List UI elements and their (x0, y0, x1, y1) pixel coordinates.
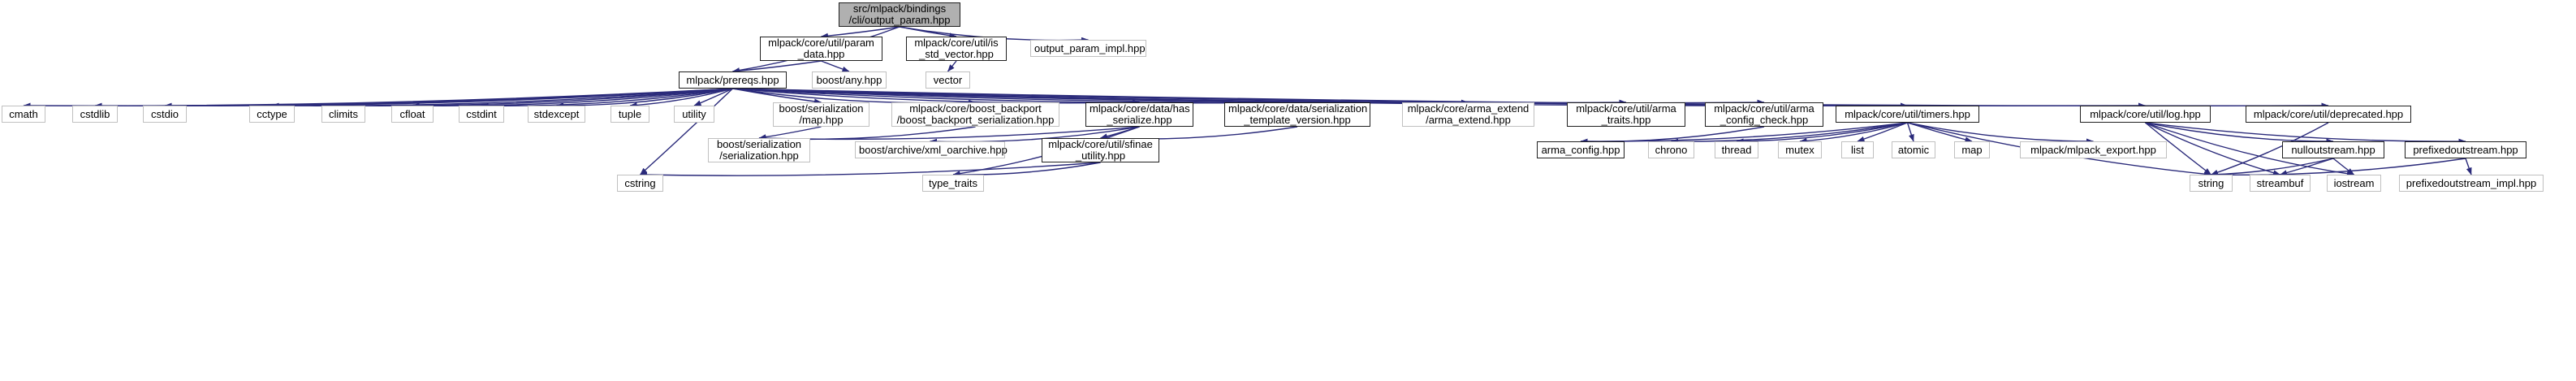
edge-nullout-to-string (2211, 158, 2334, 175)
graph-node-typetraits[interactable]: type_traits (922, 175, 984, 192)
graph-node-label: arma_config.hpp (1541, 145, 1620, 156)
edge-prereqs-to-climits (343, 89, 733, 106)
graph-node-prefiximpl[interactable]: prefixedoutstream_impl.hpp (2399, 175, 2544, 192)
graph-node-list[interactable]: list (1841, 141, 1874, 158)
graph-node-label: mlpack/core/util/arma _traits.hpp (1571, 103, 1681, 126)
graph-node-label: climits (326, 109, 361, 120)
graph-node-label: type_traits (926, 178, 980, 189)
graph-node-label: mlpack/core/util/log.hpp (2084, 109, 2207, 120)
graph-node-label: boost/archive/xml_oarchive.hpp (859, 145, 1001, 156)
graph-node-label: nulloutstream.hpp (2286, 145, 2380, 156)
edge-prereqs-to-cctype (272, 89, 733, 106)
graph-node-label: stdexcept (532, 109, 581, 120)
graph-node-label: cstdio (147, 109, 183, 120)
graph-node-armaconf[interactable]: arma_config.hpp (1537, 141, 1625, 158)
graph-node-label: mlpack/core/util/param _data.hpp (764, 37, 878, 60)
graph-node-label: src/mlpack/bindings /cli/output_param.hp… (843, 3, 956, 26)
graph-node-label: cctype (253, 109, 291, 120)
graph-node-hasserial[interactable]: mlpack/core/data/has _serialize.hpp (1085, 102, 1193, 127)
edge-armaconfchk-to-armaconf (1581, 127, 1764, 141)
edge-timers-to-mlexport (1908, 123, 2094, 141)
include-dependency-graph: src/mlpack/bindings /cli/output_param.hp… (0, 0, 2576, 381)
edge-paramdata-to-prereqs (733, 61, 822, 71)
graph-node-log[interactable]: mlpack/core/util/log.hpp (2080, 106, 2211, 123)
edge-isstdvec-to-vector (948, 61, 957, 71)
graph-node-armaconfchk[interactable]: mlpack/core/util/arma _config_check.hpp (1705, 102, 1823, 127)
edge-log-to-prefixout (2146, 123, 2466, 141)
graph-node-isstdvec[interactable]: mlpack/core/util/is _std_vector.hpp (906, 37, 1007, 61)
graph-node-armaextend[interactable]: mlpack/core/arma_extend /arma_extend.hpp (1402, 102, 1534, 127)
graph-node-vector[interactable]: vector (926, 71, 970, 89)
graph-node-paramdata[interactable]: mlpack/core/util/param _data.hpp (760, 37, 882, 61)
edge-prereqs-to-cstdlib (95, 89, 733, 106)
edge-prereqs-to-cfloat (412, 89, 733, 106)
graph-node-mlexport[interactable]: mlpack/mlpack_export.hpp (2020, 141, 2167, 158)
graph-node-label: mlpack/core/data/serialization _template… (1228, 103, 1366, 126)
graph-node-label: mlpack/core/util/deprecated.hpp (2250, 109, 2407, 120)
edge-prereqs-to-sertmplver (733, 89, 1298, 103)
graph-node-bbserial[interactable]: mlpack/core/boost_backport /boost_backpo… (891, 102, 1059, 127)
edge-log-to-nullout (2146, 123, 2334, 141)
graph-node-cstring[interactable]: cstring (617, 175, 663, 192)
graph-node-label: mlpack/core/boost_backport /boost_backpo… (895, 103, 1055, 126)
graph-node-label: streambuf (2254, 178, 2306, 189)
edge-prefixout-to-string (2211, 158, 2466, 175)
graph-node-string[interactable]: string (2190, 175, 2233, 192)
edge-prereqs-to-bsmap (733, 89, 822, 102)
graph-node-cstdlib[interactable]: cstdlib (72, 106, 118, 123)
edge-root-to-paramdata (822, 27, 900, 37)
graph-node-label: prefixedoutstream.hpp (2409, 145, 2522, 156)
graph-node-label: mlpack/core/arma_extend /arma_extend.hpp (1406, 103, 1530, 126)
edge-timers-to-list (1858, 123, 1908, 141)
graph-node-climits[interactable]: climits (321, 106, 365, 123)
edge-timers-to-atomic (1908, 123, 1914, 141)
edge-sfinae-to-cstring (641, 162, 1101, 175)
graph-node-label: list (1845, 145, 1870, 156)
graph-node-armatraits[interactable]: mlpack/core/util/arma _traits.hpp (1567, 102, 1685, 127)
graph-node-label: boost/serialization /serialization.hpp (712, 139, 806, 162)
graph-node-label: cfloat (395, 109, 429, 120)
edge-root-to-isstdvec (900, 27, 956, 37)
graph-node-label: mlpack/mlpack_export.hpp (2024, 145, 2163, 156)
graph-node-label: prefixedoutstream_impl.hpp (2403, 178, 2539, 189)
graph-node-cctype[interactable]: cctype (249, 106, 295, 123)
graph-node-label: boost/serialization /map.hpp (777, 103, 865, 126)
edge-sfinae-to-typetraits (953, 162, 1101, 175)
graph-node-atomic[interactable]: atomic (1892, 141, 1935, 158)
graph-node-label: string (2194, 178, 2229, 189)
graph-node-chrono[interactable]: chrono (1648, 141, 1694, 158)
edge-nullout-to-iostream (2333, 158, 2354, 175)
graph-node-outimpl[interactable]: output_param_impl.hpp (1030, 40, 1146, 57)
graph-node-label: mlpack/core/util/timers.hpp (1840, 109, 1975, 120)
graph-node-root[interactable]: src/mlpack/bindings /cli/output_param.hp… (839, 2, 960, 27)
graph-node-label: mlpack/core/util/sfinae _utility.hpp (1046, 139, 1155, 162)
graph-node-label: mlpack/core/util/is _std_vector.hpp (910, 37, 1003, 60)
edge-hasserial-to-sfinae (1101, 127, 1140, 138)
graph-node-utility[interactable]: utility (674, 106, 714, 123)
edge-prereqs-to-bbserial (733, 89, 976, 103)
edge-prereqs-to-armaextend (733, 89, 1469, 103)
graph-node-xmloarch[interactable]: boost/archive/xml_oarchive.hpp (855, 141, 1005, 158)
edge-prereqs-to-cmath (24, 89, 733, 106)
graph-node-label: cstdlib (76, 109, 114, 120)
edge-prereqs-to-armatraits (733, 89, 1627, 103)
graph-node-bsmap[interactable]: boost/serialization /map.hpp (773, 102, 869, 127)
edge-prereqs-to-armaconfchk (733, 89, 1765, 103)
graph-node-iostream[interactable]: iostream (2327, 175, 2381, 192)
graph-node-label: tuple (615, 109, 645, 120)
graph-node-timers[interactable]: mlpack/core/util/timers.hpp (1836, 106, 1979, 123)
edge-prereqs-to-utility (694, 89, 733, 106)
edge-prefixout-to-prefiximpl (2466, 158, 2471, 175)
graph-node-label: vector (930, 75, 966, 86)
graph-node-label: map (1958, 145, 1986, 156)
graph-node-label: atomic (1896, 145, 1931, 156)
graph-node-thread[interactable]: thread (1715, 141, 1758, 158)
edge-prereqs-to-cstdio (165, 89, 733, 106)
graph-node-cstdio[interactable]: cstdio (143, 106, 187, 123)
graph-node-bsserial[interactable]: boost/serialization /serialization.hpp (708, 138, 810, 162)
edge-nullout-to-streambuf (2280, 158, 2334, 175)
edge-prereqs-to-hasserial (733, 89, 1140, 103)
graph-node-cfloat[interactable]: cfloat (391, 106, 434, 123)
graph-node-label: cstdint (463, 109, 500, 120)
graph-node-sertmplver[interactable]: mlpack/core/data/serialization _template… (1224, 102, 1370, 127)
graph-node-map[interactable]: map (1954, 141, 1990, 158)
graph-node-label: chrono (1652, 145, 1690, 156)
graph-node-cstdint[interactable]: cstdint (459, 106, 504, 123)
graph-node-label: boost/any.hpp (816, 75, 882, 86)
edge-sertmplver-to-sfinae (1101, 127, 1298, 139)
graph-node-label: mlpack/core/util/arma _config_check.hpp (1709, 103, 1819, 126)
edge-prereqs-to-stdexcept (557, 89, 733, 106)
graph-node-label: cstring (621, 178, 659, 189)
edge-bsmap-to-bsserial (759, 127, 822, 138)
graph-node-label: output_param_impl.hpp (1034, 43, 1142, 54)
graph-node-cmath[interactable]: cmath (2, 106, 45, 123)
graph-node-label: mlpack/prereqs.hpp (683, 75, 783, 86)
graph-node-tuple[interactable]: tuple (611, 106, 649, 123)
graph-node-mutex[interactable]: mutex (1778, 141, 1822, 158)
graph-node-label: iostream (2331, 178, 2377, 189)
graph-node-prereqs[interactable]: mlpack/prereqs.hpp (679, 71, 787, 89)
graph-node-label: thread (1719, 145, 1754, 156)
graph-node-prefixout[interactable]: prefixedoutstream.hpp (2405, 141, 2526, 158)
graph-node-label: cmath (6, 109, 41, 120)
edge-paramdata-to-boostany (822, 61, 850, 71)
graph-node-nullout[interactable]: nulloutstream.hpp (2282, 141, 2384, 158)
edge-prereqs-to-tuple (630, 89, 733, 106)
graph-node-streambuf[interactable]: streambuf (2250, 175, 2311, 192)
graph-node-stdexcept[interactable]: stdexcept (528, 106, 585, 123)
graph-node-label: mlpack/core/data/has _serialize.hpp (1090, 103, 1189, 126)
graph-node-boostany[interactable]: boost/any.hpp (812, 71, 887, 89)
edge-prereqs-to-cstdint (481, 89, 733, 106)
graph-node-sfinae[interactable]: mlpack/core/util/sfinae _utility.hpp (1042, 138, 1159, 162)
edge-timers-to-map (1908, 123, 1973, 141)
graph-node-deprecated[interactable]: mlpack/core/util/deprecated.hpp (2246, 106, 2411, 123)
graph-node-label: mutex (1782, 145, 1818, 156)
graph-node-label: utility (678, 109, 710, 120)
